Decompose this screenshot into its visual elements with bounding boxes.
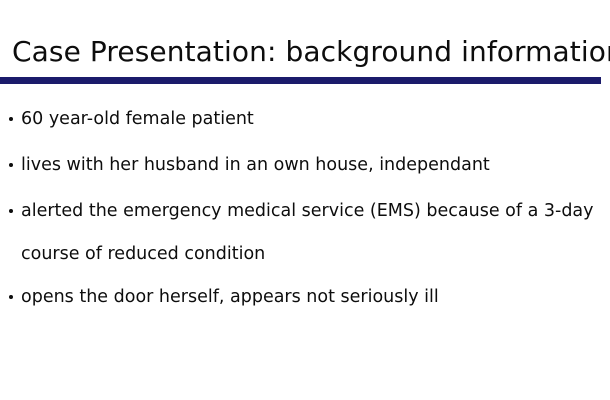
list-item-continuation: course of reduced condition [0, 234, 610, 274]
slide-title-area: Case Presentation: background informatio… [0, 30, 610, 76]
list-item-label: lives with her husband in an own house, … [21, 154, 490, 176]
bullet-dot-icon [9, 163, 13, 167]
slide-bottom-spacer [0, 320, 610, 390]
list-item: opens the door herself, appears not seri… [0, 274, 610, 320]
page-title: Case Presentation: background informatio… [12, 30, 610, 74]
list-item: lives with her husband in an own house, … [0, 142, 610, 188]
bullet-dot-icon [9, 117, 13, 121]
slide-body: 60 year-old female patient lives with he… [0, 96, 610, 390]
list-item-continuation-label: course of reduced condition [21, 243, 265, 265]
bullet-dot-icon [9, 209, 13, 213]
list-item: alerted the emergency medical service (E… [0, 188, 610, 234]
list-item-label: opens the door herself, appears not seri… [21, 286, 439, 308]
bullet-dot-icon [9, 295, 13, 299]
list-item-label: alerted the emergency medical service (E… [21, 200, 594, 222]
presentation-slide: Case Presentation: background informatio… [0, 0, 610, 400]
title-divider-rule [0, 77, 601, 84]
list-item: 60 year-old female patient [0, 96, 610, 142]
list-item-label: 60 year-old female patient [21, 108, 254, 130]
